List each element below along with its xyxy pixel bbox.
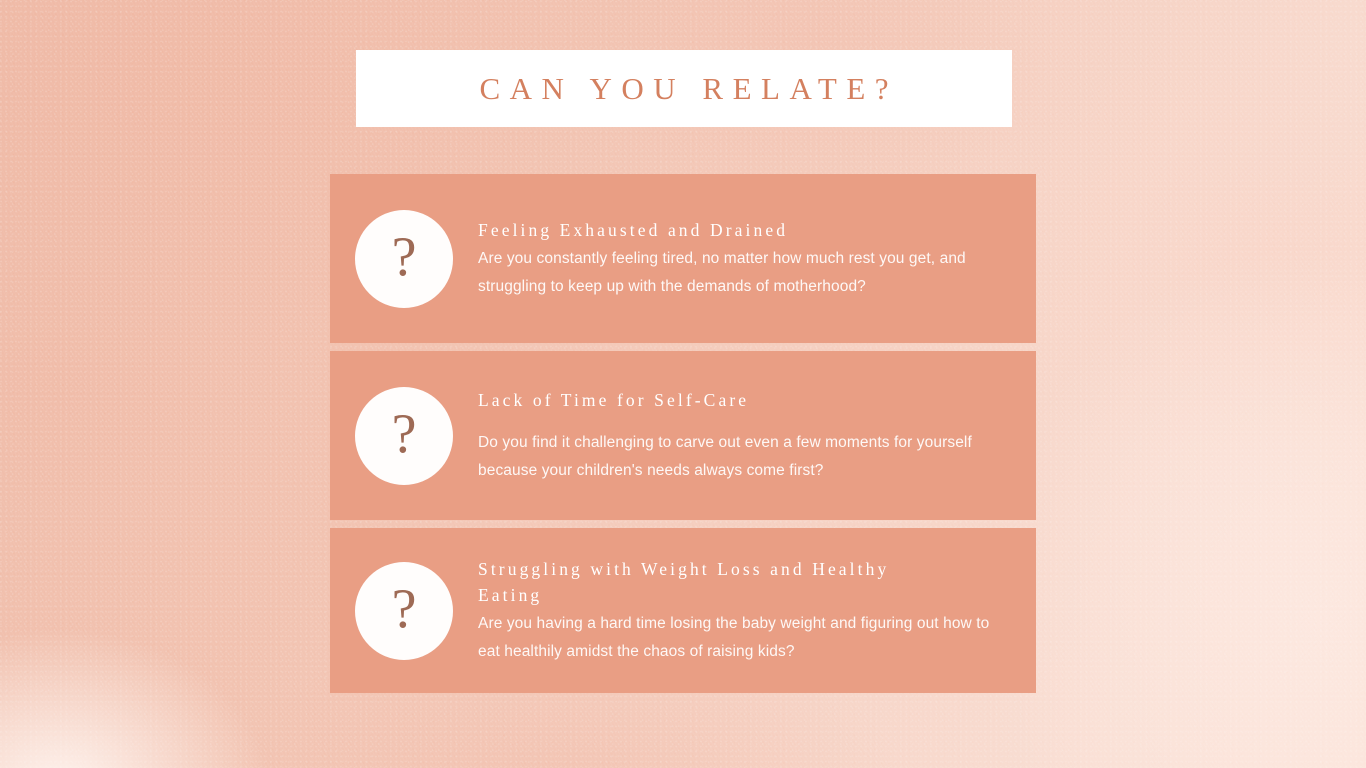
card-text: Feeling Exhausted and Drained Are you co… [478,217,1036,301]
slide-content: CAN YOU RELATE? ? Feeling Exhausted and … [0,0,1366,768]
question-mark-icon: ? [392,581,417,637]
card-text: Lack of Time for Self-Care Do you find i… [478,387,1036,485]
card-heading: Feeling Exhausted and Drained [478,217,918,243]
question-mark-icon: ? [392,229,417,285]
title-banner: CAN YOU RELATE? [356,50,1012,127]
card-icon-wrap: ? [330,562,478,660]
relate-card: ? Feeling Exhausted and Drained Are you … [330,174,1036,343]
card-body: Are you having a hard time losing the ba… [478,610,998,666]
relate-card: ? Struggling with Weight Loss and Health… [330,528,1036,693]
icon-circle: ? [355,210,453,308]
card-text: Struggling with Weight Loss and Healthy … [478,556,1036,666]
icon-circle: ? [355,562,453,660]
question-mark-icon: ? [392,406,417,462]
card-body: Are you constantly feeling tired, no mat… [478,245,990,301]
icon-circle: ? [355,387,453,485]
card-heading: Lack of Time for Self-Care [478,387,918,413]
page-title: CAN YOU RELATE? [470,71,898,107]
card-icon-wrap: ? [330,387,478,485]
relate-card: ? Lack of Time for Self-Care Do you find… [330,351,1036,520]
card-heading: Struggling with Weight Loss and Healthy … [478,556,918,608]
card-icon-wrap: ? [330,210,478,308]
card-body: Do you find it challenging to carve out … [478,429,990,485]
